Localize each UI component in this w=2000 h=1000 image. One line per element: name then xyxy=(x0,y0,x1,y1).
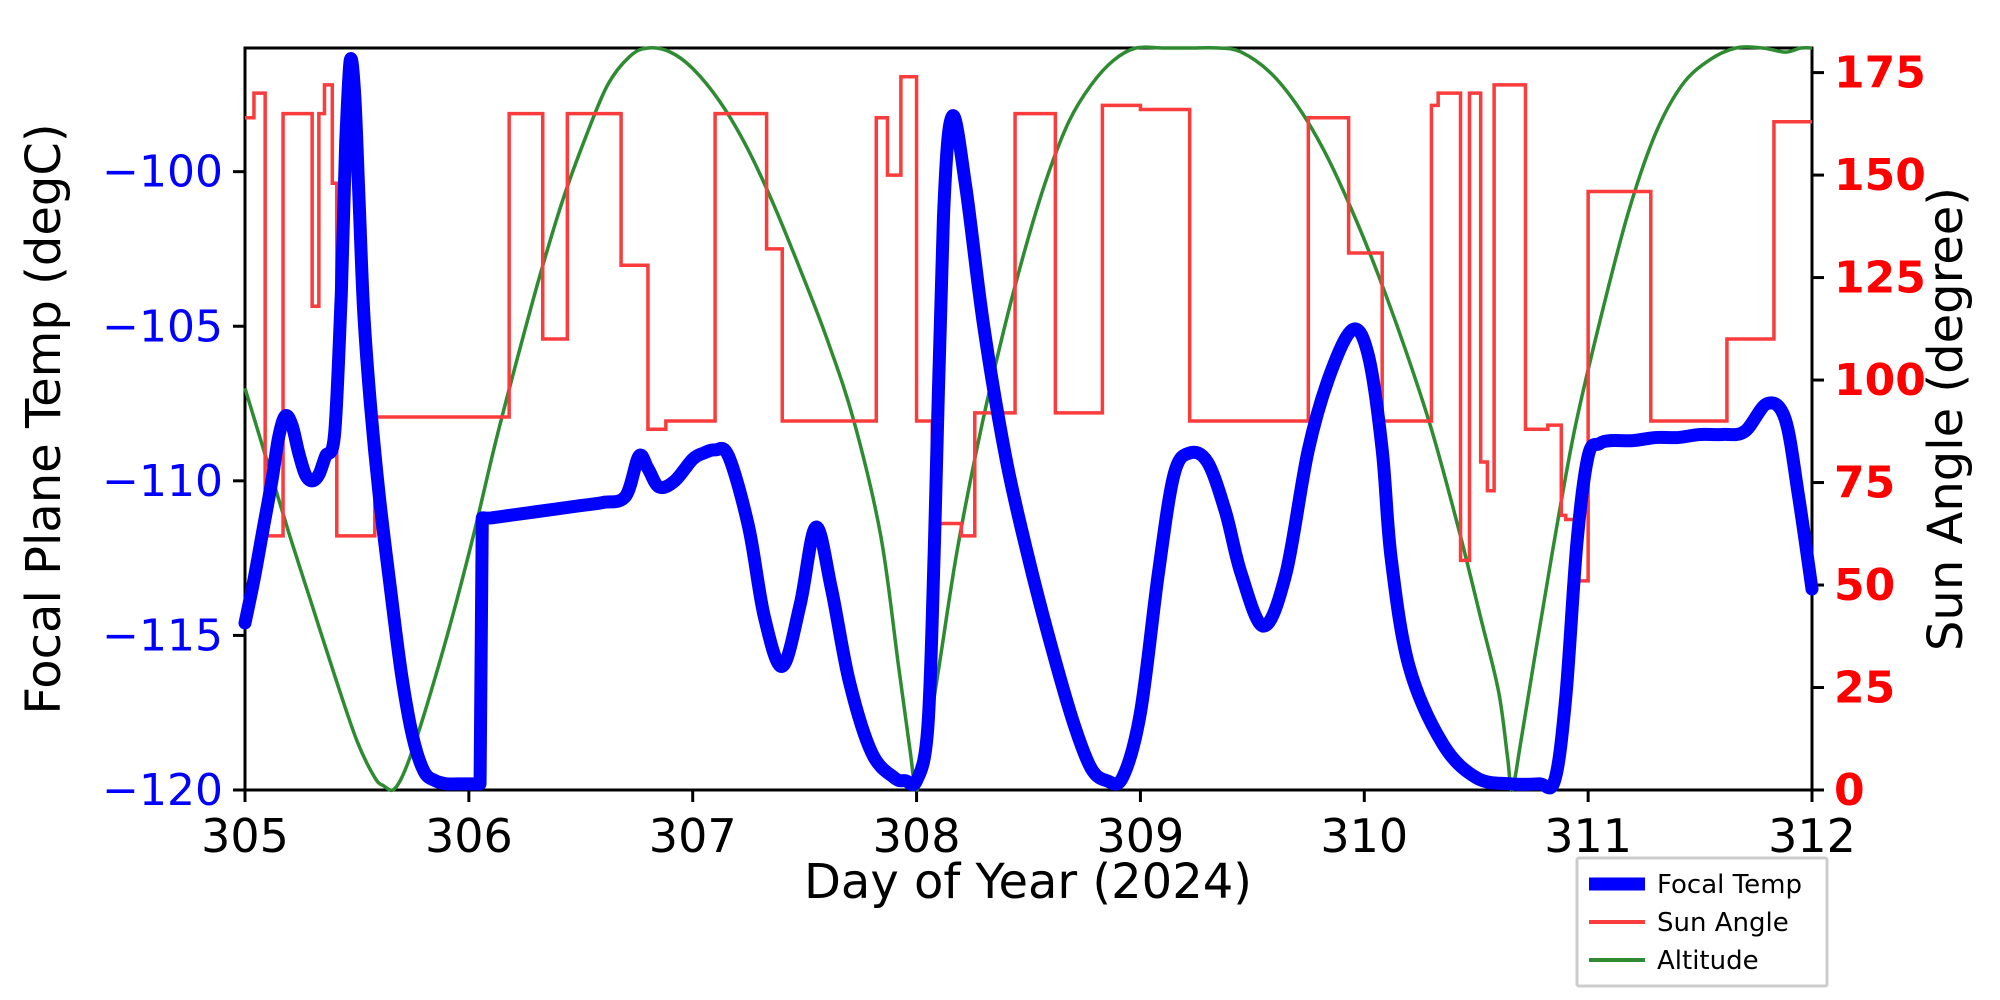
y-right-tick-label: 0 xyxy=(1834,765,1865,816)
x-tick-label: 307 xyxy=(649,809,737,863)
legend-label-focal-temp: Focal Temp xyxy=(1657,870,1802,900)
chart-legend[interactable]: Focal Temp Sun Angle Altitude xyxy=(1577,858,1827,986)
x-tick-label: 310 xyxy=(1320,809,1408,863)
x-tick-label: 312 xyxy=(1768,809,1856,863)
focal-plane-temp-chart: 305306307308309310311312 −120−115−110−10… xyxy=(0,0,2000,1000)
y-left-tick-label: −115 xyxy=(102,610,223,661)
y-axis-left-tick-labels: −120−115−110−105−100 xyxy=(102,147,223,816)
x-tick-label: 311 xyxy=(1544,809,1632,863)
x-tick-label: 306 xyxy=(425,809,513,863)
y-left-tick-label: −110 xyxy=(102,456,223,507)
y-right-tick-label: 50 xyxy=(1834,560,1895,611)
y-axis-right-ticks xyxy=(1812,73,1824,790)
y-axis-left-ticks xyxy=(233,172,245,790)
y-right-tick-label: 175 xyxy=(1834,48,1926,99)
y-axis-left-title: Focal Plane Temp (degC) xyxy=(16,123,72,714)
x-axis-ticks xyxy=(245,790,1812,802)
y-axis-right-tick-labels: 0255075100125150175 xyxy=(1834,48,1926,816)
y-axis-right-title: Sun Angle (degree) xyxy=(1918,187,1974,651)
x-tick-label: 305 xyxy=(201,809,289,863)
chart-root: 305306307308309310311312 −120−115−110−10… xyxy=(0,0,2000,1000)
y-right-tick-label: 125 xyxy=(1834,253,1926,304)
y-right-tick-label: 150 xyxy=(1834,150,1926,201)
y-left-tick-label: −100 xyxy=(102,147,223,198)
y-right-tick-label: 25 xyxy=(1834,663,1895,714)
y-right-tick-label: 100 xyxy=(1834,355,1926,406)
legend-label-altitude: Altitude xyxy=(1657,946,1759,976)
y-right-tick-label: 75 xyxy=(1834,458,1895,509)
y-left-tick-label: −120 xyxy=(102,765,223,816)
legend-label-sun-angle: Sun Angle xyxy=(1657,908,1789,938)
x-axis-title: Day of Year (2024) xyxy=(804,854,1252,910)
y-left-tick-label: −105 xyxy=(102,301,223,352)
